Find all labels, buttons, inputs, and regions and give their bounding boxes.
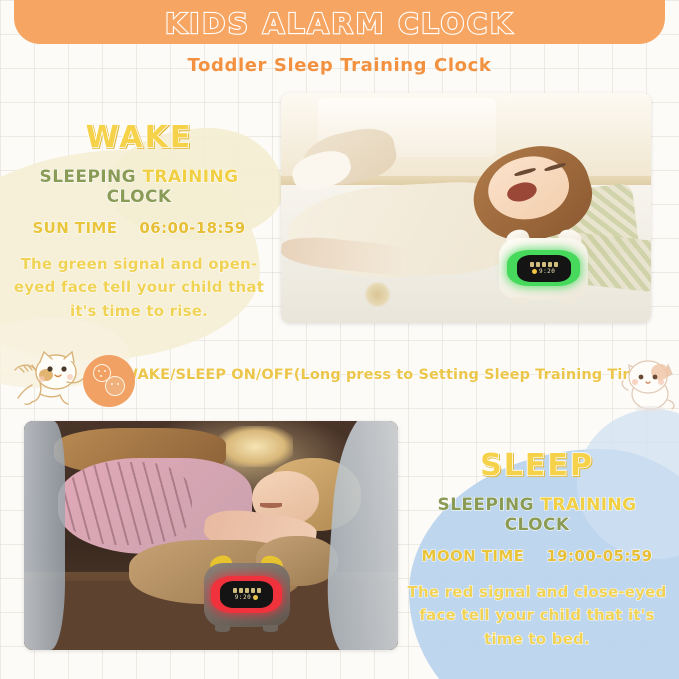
sleep-description: The red signal and close-eyed face tell … xyxy=(404,581,670,651)
sleep-text-column: SLEEP SLEEPING TRAINING CLOCK MOON TIME … xyxy=(404,448,670,651)
wake-decor-star xyxy=(359,282,396,307)
lcd-icon-n1 xyxy=(233,588,237,593)
wake-time-row: SUN TIME 06:00-18:59 xyxy=(6,219,272,237)
sleep-heading: SLEEP xyxy=(404,448,670,483)
sleep-mode-word-training: TRAINING xyxy=(540,495,636,515)
clock-glow-ring-red: 9:20 xyxy=(211,576,282,613)
lcd-icon-row xyxy=(530,262,558,267)
lcd-icon-n2 xyxy=(239,588,243,593)
badge-sleep-face-icon xyxy=(105,376,125,396)
lcd-time-row: 9:20 xyxy=(532,268,555,275)
sleep-child-smile xyxy=(260,503,282,508)
photo-sleep: 9:20 xyxy=(24,421,398,650)
sleep-curtain-left xyxy=(24,421,65,650)
lcd-time-row-night: 9:20 xyxy=(235,594,258,601)
wake-sleep-toggle-icon[interactable] xyxy=(83,355,135,407)
wake-mode-word-clock: CLOCK xyxy=(107,187,172,207)
sleep-time-label: MOON TIME xyxy=(422,547,525,565)
wake-text-column: WAKE SLEEPING TRAINING CLOCK SUN TIME 06… xyxy=(6,120,272,323)
clock-device-red: 9:20 xyxy=(204,563,290,627)
sleep-mode-word-sleeping: SLEEPING xyxy=(438,495,541,515)
clock-foot-right-dark xyxy=(263,625,278,631)
wake-time-label: SUN TIME xyxy=(32,219,117,237)
sleep-pajama-pattern xyxy=(65,462,192,544)
sun-face-icon xyxy=(532,269,537,274)
photo-wake: 9:20 xyxy=(281,93,651,323)
lcd-icon-1 xyxy=(530,262,534,267)
sleep-mode-line: SLEEPING TRAINING CLOCK xyxy=(404,495,670,535)
clock-lcd-screen: 9:20 xyxy=(517,255,571,282)
clock-lcd-screen-night: 9:20 xyxy=(220,581,272,609)
clock-foot-left-dark xyxy=(215,625,230,631)
page-title: KIDS ALARM CLOCK xyxy=(165,7,514,40)
wake-mode-word-training: TRAINING xyxy=(142,167,238,187)
wake-scene: 9:20 xyxy=(281,93,651,323)
clock-time-display-night: 9:20 xyxy=(235,594,251,601)
cat-waving-icon xyxy=(620,350,676,412)
clock-foot-right xyxy=(561,298,577,304)
sleep-time-row: MOON TIME 19:00-05:59 xyxy=(404,547,670,565)
sleep-mode-word-clock: CLOCK xyxy=(505,515,570,535)
sleep-time-value: 19:00-05:59 xyxy=(546,547,652,565)
clock-foot-left xyxy=(511,298,527,304)
band-instruction-text: WAKE/SLEEP ON/OFF(Long press to Setting … xyxy=(122,367,552,383)
header-banner: KIDS ALARM CLOCK xyxy=(14,0,665,44)
wake-heading: WAKE xyxy=(6,120,272,155)
cat-running-icon xyxy=(12,348,90,410)
wake-mode-line: SLEEPING TRAINING CLOCK xyxy=(6,167,272,207)
lcd-icon-n3 xyxy=(245,588,249,593)
lcd-icon-n5 xyxy=(257,588,261,593)
clock-time-display: 9:20 xyxy=(539,268,555,275)
lcd-icon-2 xyxy=(536,262,540,267)
lcd-icon-5 xyxy=(554,262,558,267)
wake-time-value: 06:00-18:59 xyxy=(139,219,245,237)
lcd-icon-3 xyxy=(542,262,546,267)
clock-device-green: 9:20 xyxy=(499,238,588,300)
lcd-icon-4 xyxy=(548,262,552,267)
wake-mode-word-sleeping: SLEEPING xyxy=(40,167,143,187)
wake-description: The green signal and open-eyed face tell… xyxy=(6,253,272,323)
lcd-icon-n4 xyxy=(251,588,255,593)
clock-glow-ring-green: 9:20 xyxy=(507,250,580,286)
sleep-scene: 9:20 xyxy=(24,421,398,650)
sleep-lamp xyxy=(218,426,293,467)
moon-face-icon xyxy=(253,595,258,600)
page-subtitle: Toddler Sleep Training Clock xyxy=(0,55,679,76)
lcd-icon-row-night xyxy=(233,588,261,593)
